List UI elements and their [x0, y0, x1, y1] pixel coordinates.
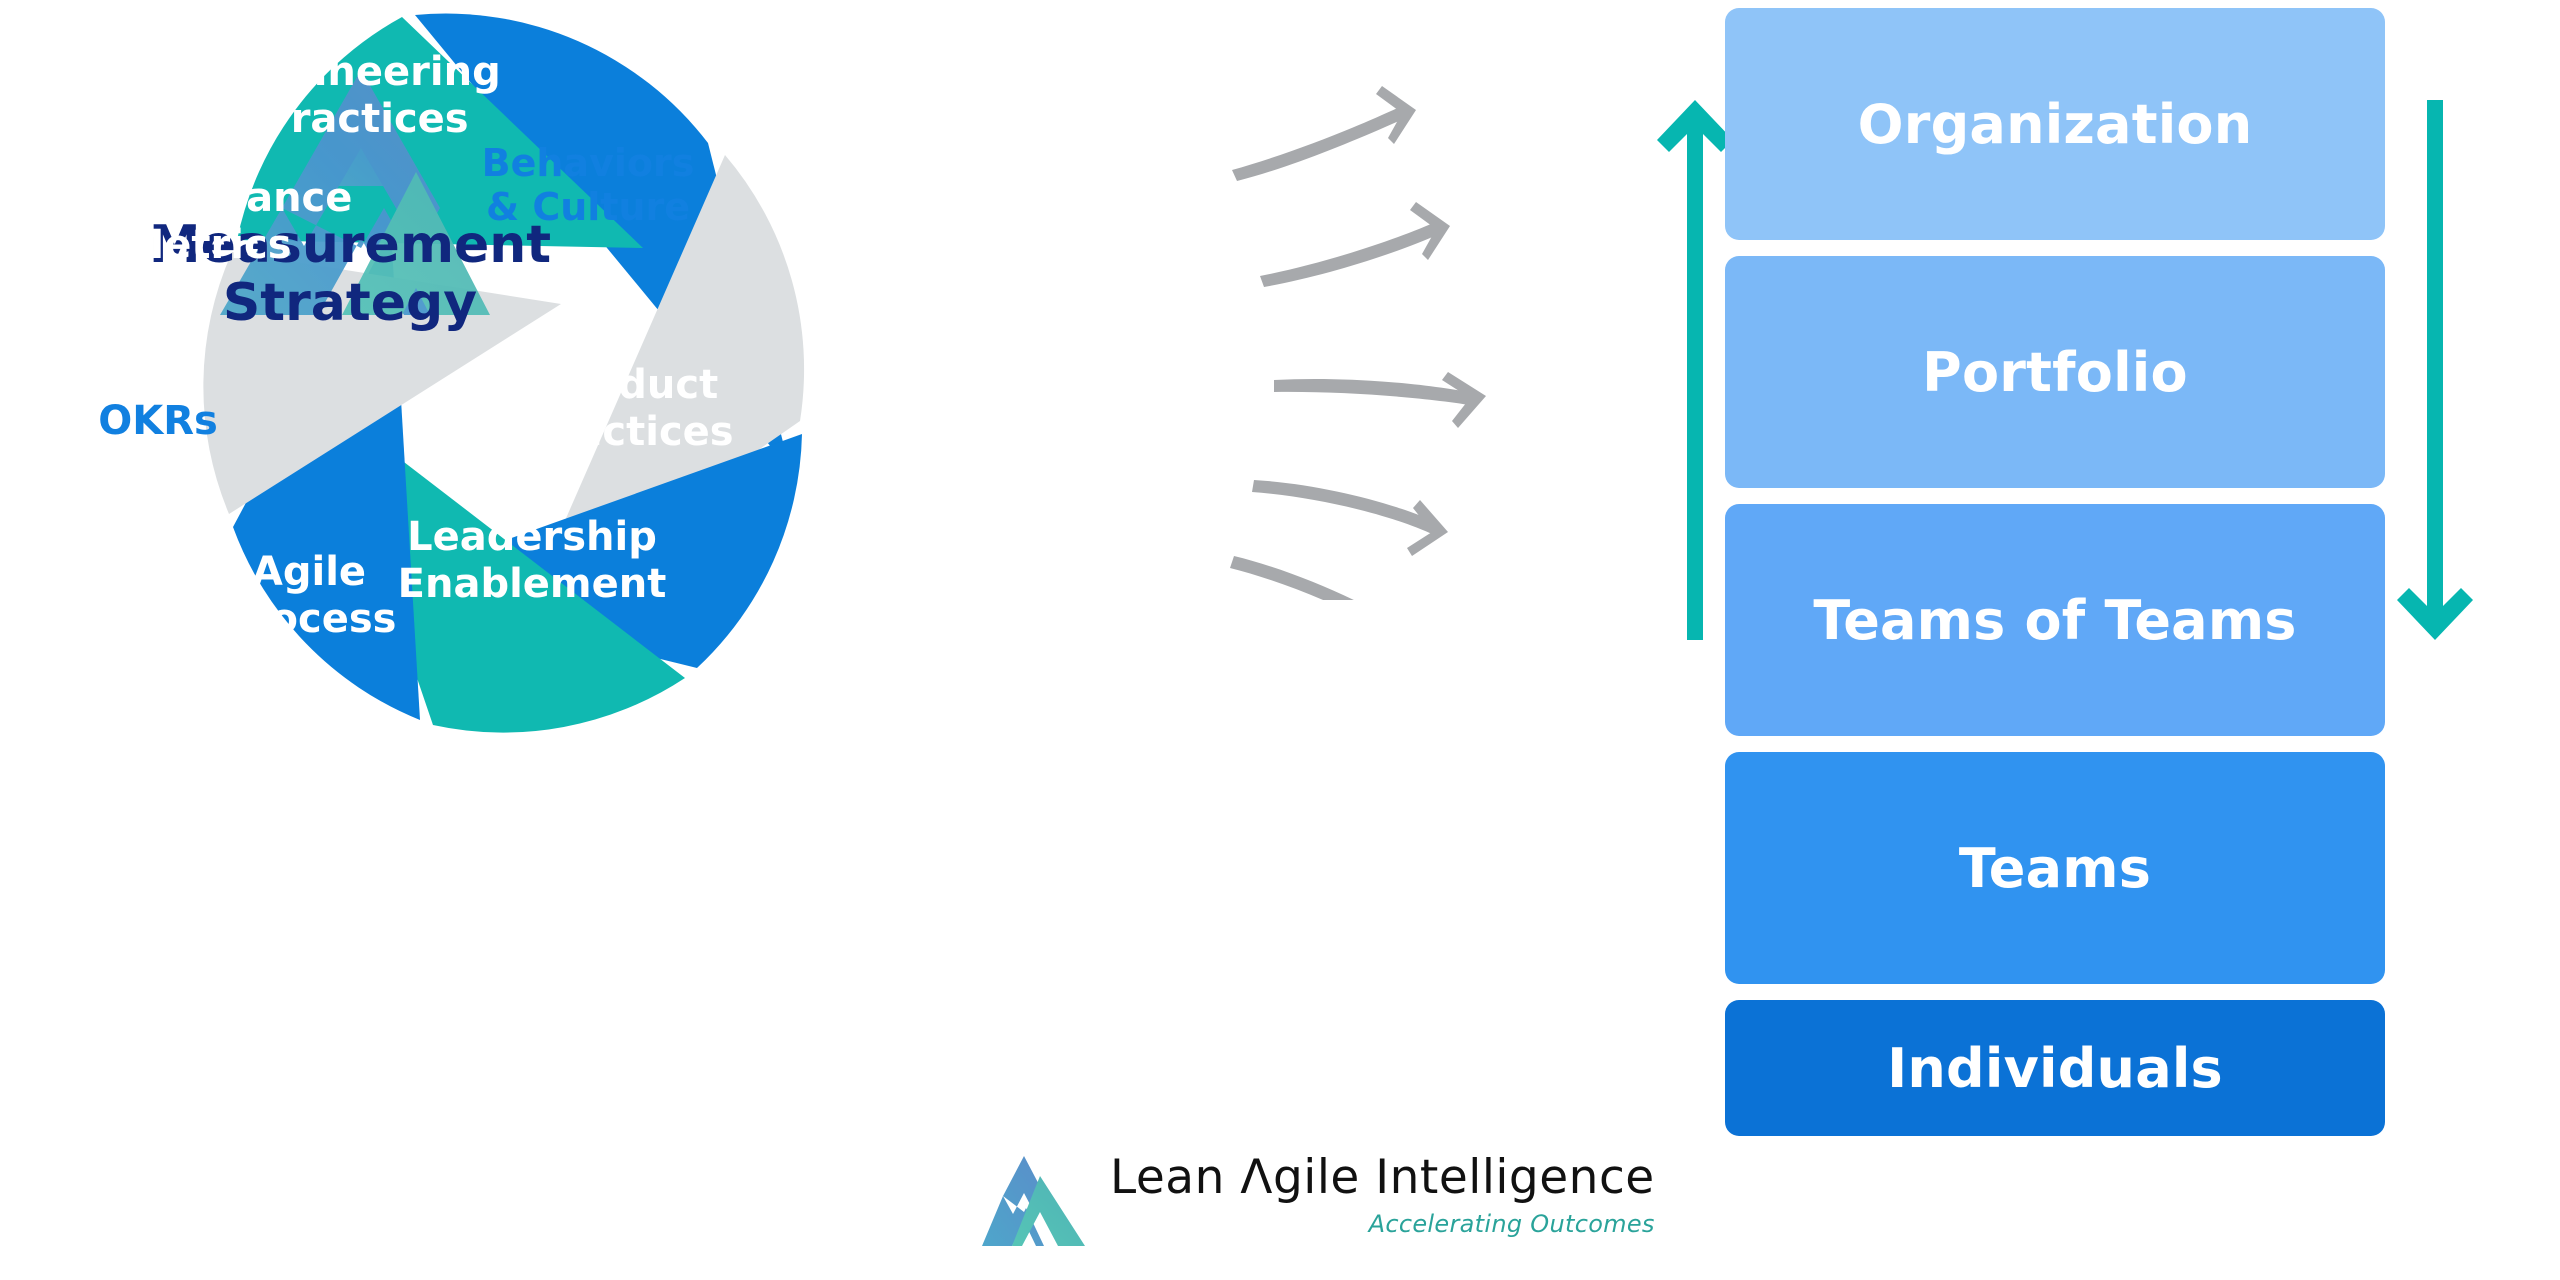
- level-label-individuals: Individuals: [1887, 1037, 2223, 1100]
- blade-label-performance-metrics-line1: Performance: [64, 175, 353, 221]
- blade-label-product-practices-line1: Product: [542, 362, 718, 408]
- level-box-portfolio[interactable]: Portfolio: [1725, 256, 2385, 488]
- level-label-teams-of-teams: Teams of Teams: [1813, 589, 2296, 652]
- level-box-teams[interactable]: Teams: [1725, 752, 2385, 984]
- blade-label-leadership-enablement-line2: Enablement: [398, 561, 667, 607]
- blade-label-agile-process-line1: Agile: [252, 549, 366, 595]
- brand-lockup: Lean Λgile Intelligence Accelerating Out…: [980, 1148, 1655, 1254]
- measurement-strategy-wheel: Measurement Strategy Engineering Practic…: [60, 0, 1240, 1120]
- brand-name: Lean Λgile Intelligence: [1110, 1154, 1655, 1201]
- arrow-up-icon: [1655, 100, 1735, 640]
- curved-arrow-right-icon-4: [1252, 480, 1448, 556]
- blade-label-okrs: OKRs: [98, 398, 218, 444]
- curved-arrow-right-icon-2: [1260, 202, 1450, 287]
- curved-arrow-right-icon-3: [1274, 372, 1486, 428]
- connector-arrows: [1230, 80, 1700, 600]
- blade-label-product-practices-line2: Practices: [526, 409, 733, 455]
- blade-label-performance-metrics-line2: Metrics: [124, 222, 291, 268]
- curved-arrow-right-icon-5: [1230, 556, 1412, 600]
- blade-label-agile-process-line2: Process: [222, 596, 397, 642]
- blade-label-leadership-enablement-line1: Leadership: [407, 514, 657, 560]
- blade-label-behaviors-culture-line2: & Culture: [486, 185, 690, 229]
- diagram-canvas: Measurement Strategy Engineering Practic…: [0, 0, 2560, 1280]
- blade-label-behaviors-culture-line1: Behaviors: [482, 141, 695, 185]
- blade-label-engineering-practices-line1: Engineering: [229, 49, 500, 95]
- level-label-portfolio: Portfolio: [1922, 341, 2188, 404]
- level-label-organization: Organization: [1858, 93, 2253, 156]
- blade-label-engineering-practices-line2: Practices: [261, 96, 468, 142]
- level-box-individuals[interactable]: Individuals: [1725, 1000, 2385, 1136]
- center-title-line2: Strategy: [223, 273, 477, 333]
- curved-arrow-right-icon-1: [1232, 86, 1416, 181]
- lean-agile-intelligence-logo-icon: [980, 1148, 1088, 1254]
- level-box-organization[interactable]: Organization: [1725, 8, 2385, 240]
- brand-tagline: Accelerating Outcomes: [1110, 1210, 1655, 1238]
- arrow-down-icon: [2395, 100, 2475, 640]
- level-label-teams: Teams: [1959, 837, 2151, 900]
- level-box-teams-of-teams[interactable]: Teams of Teams: [1725, 504, 2385, 736]
- organizational-levels-stack: Organization Portfolio Teams of Teams Te…: [1725, 8, 2385, 1128]
